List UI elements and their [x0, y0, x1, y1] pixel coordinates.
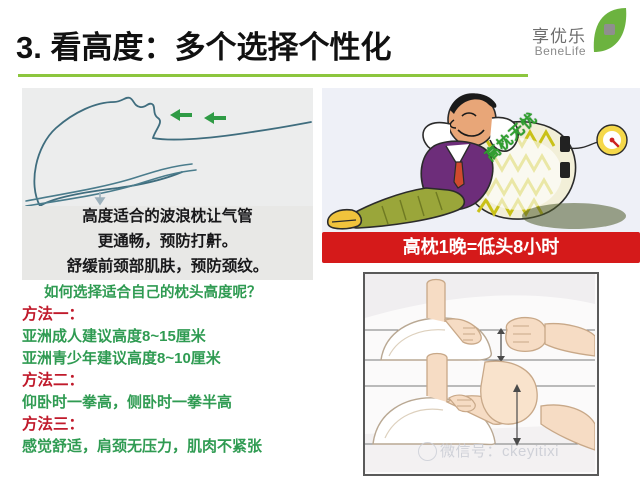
caption-line-3: 舒缓前颈部肌肤，预防颈纹。 — [22, 254, 313, 279]
wechat-badge-icon — [418, 442, 437, 461]
method-3-line-1: 感觉舒适，肩颈无压力，肌肉不紧张 — [22, 436, 322, 458]
right-top-image-panel: 高枕无忧 高枕1晚=低头8小时 — [322, 88, 640, 263]
wechat-watermark-text: 微信号：ckeyitixi — [440, 440, 559, 461]
green-arrow-left — [170, 109, 192, 121]
method-1-line-2: 亚洲青少年建议高度8~10厘米 — [22, 348, 322, 370]
red-banner: 高枕1晚=低头8小时 — [322, 232, 640, 263]
green-arrow-right — [204, 112, 226, 124]
slide-header: 3. 看高度：多个选择个性化 享优乐 BeneLife — [0, 0, 640, 80]
man-reclining-on-high-pillow-cartoon: 高枕无忧 — [322, 88, 640, 233]
caption-line-2: 更通畅，预防打鼾。 — [22, 229, 313, 254]
method-1-heading: 方法一： — [22, 304, 322, 326]
logo-en-text: BeneLife — [535, 44, 586, 58]
left-panel-caption: 高度适合的波浪枕让气管 更通畅，预防打鼾。 舒缓前颈部肌肤，预防颈纹。 — [22, 204, 313, 279]
leaf-icon — [590, 6, 630, 56]
head-neck-pillow-profile-diagram — [22, 88, 313, 206]
left-image-panel: 高度适合的波浪枕让气管 更通畅，预防打鼾。 舒缓前颈部肌肤，预防颈纹。 — [22, 88, 313, 280]
method-question: 如何选择适合自己的枕头高度呢？ — [22, 283, 322, 304]
wechat-watermark: 微信号：ckeyitixi — [418, 440, 628, 462]
method-text-block: 如何选择适合自己的枕头高度呢？ 方法一： 亚洲成人建议高度8~15厘米 亚洲青少… — [22, 283, 322, 458]
page-title: 3. 看高度：多个选择个性化 — [16, 22, 391, 67]
method-2-heading: 方法二： — [22, 370, 322, 392]
method-3-heading: 方法三： — [22, 414, 322, 436]
brand-logo: 享优乐 BeneLife — [510, 4, 634, 70]
method-1-line-1: 亚洲成人建议高度8~15厘米 — [22, 326, 322, 348]
red-banner-text: 高枕1晚=低头8小时 — [322, 232, 640, 263]
title-underline-rule — [18, 74, 528, 77]
caption-line-1: 高度适合的波浪枕让气管 — [22, 204, 313, 229]
method-2-line-1: 仰卧时一拳高，侧卧时一拳半高 — [22, 392, 322, 414]
